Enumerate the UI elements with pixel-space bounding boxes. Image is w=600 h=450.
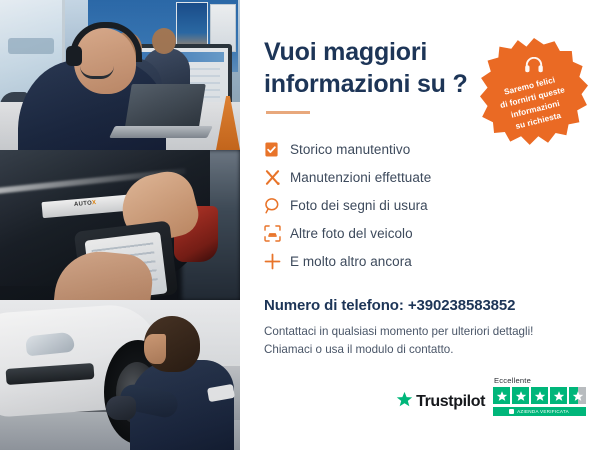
star-filled [512, 387, 529, 404]
list-item: Manutenzioni effettuate [264, 163, 572, 191]
plus-icon [264, 253, 290, 270]
verified-label: AZIENDA VERIFICATA [517, 409, 569, 414]
verified-business-badge: AZIENDA VERIFICATA [493, 407, 586, 416]
contact-details: Contattaci in qualsiasi momento per ulte… [264, 323, 572, 359]
request-info-badge: Saremo felici di fornirti queste informa… [480, 38, 588, 146]
list-item-label: Storico manutentivo [290, 142, 410, 157]
magnifier-icon [264, 197, 290, 214]
clipboard-check-icon [264, 141, 290, 158]
contact-detail-line-1: Contattaci in qualsiasi momento per ulte… [264, 325, 533, 338]
tablet-inspection-photo: AUTOX [0, 150, 240, 300]
trustpilot-widget[interactable]: Trustpilot Eccellente [396, 376, 586, 416]
list-item: Foto dei segni di usura [264, 191, 572, 219]
car-frame-icon [264, 225, 290, 242]
contact-detail-line-2: Chiamaci o usa il modulo di contatto. [264, 343, 453, 356]
mechanic-face [144, 334, 166, 364]
headset-icon [524, 57, 544, 78]
badge-text: Saremo felici di fornirti queste informa… [491, 71, 576, 136]
laptop-keyboard [109, 126, 213, 138]
phone-label: Numero di telefono: [264, 297, 404, 314]
colleague-far-head [152, 28, 176, 54]
rating-label: Eccellente [493, 376, 531, 385]
headset-earcup-icon [66, 46, 82, 66]
list-item: E molto altro ancora [264, 247, 572, 275]
trustpilot-logo: Trustpilot [396, 391, 485, 416]
list-item-label: E molto altro ancora [290, 254, 412, 269]
rating-stars [493, 387, 586, 404]
promo-card: AUTOX V [0, 0, 600, 450]
call-centre-advisor-photo [0, 0, 240, 150]
feature-list: Storico manutentivo Manutenzioni effettu… [264, 135, 572, 275]
list-item: Altre foto del veicolo [264, 219, 572, 247]
mechanic-glove [106, 396, 136, 420]
verified-check-icon [509, 409, 514, 414]
title-underline-rule [266, 111, 310, 114]
list-item-label: Altre foto del veicolo [290, 226, 413, 241]
phone-line: Numero di telefono: +390238583852 [264, 297, 572, 314]
star-half [569, 387, 586, 404]
content-panel: Vuoi maggiori informazioni su ? Saremo f… [240, 0, 600, 450]
trustpilot-star-icon [396, 391, 413, 413]
trustpilot-rating: Eccellente [493, 376, 586, 416]
headline-line-2: informazioni su ? [264, 70, 468, 98]
star-filled [531, 387, 548, 404]
page-title: Vuoi maggiori informazioni su ? [264, 36, 484, 100]
headline-line-1: Vuoi maggiori [264, 38, 427, 66]
list-item-label: Manutenzioni effettuate [290, 170, 431, 185]
photo-column: AUTOX [0, 0, 240, 450]
tools-cross-icon [264, 169, 290, 186]
list-item-label: Foto dei segni di usura [290, 198, 428, 213]
trustpilot-wordmark: Trustpilot [416, 393, 485, 411]
mechanic-wheel-photo [0, 300, 240, 450]
star-filled [493, 387, 510, 404]
laptop-screen [124, 84, 206, 132]
phone-number[interactable]: +390238583852 [408, 297, 516, 314]
star-filled [550, 387, 567, 404]
